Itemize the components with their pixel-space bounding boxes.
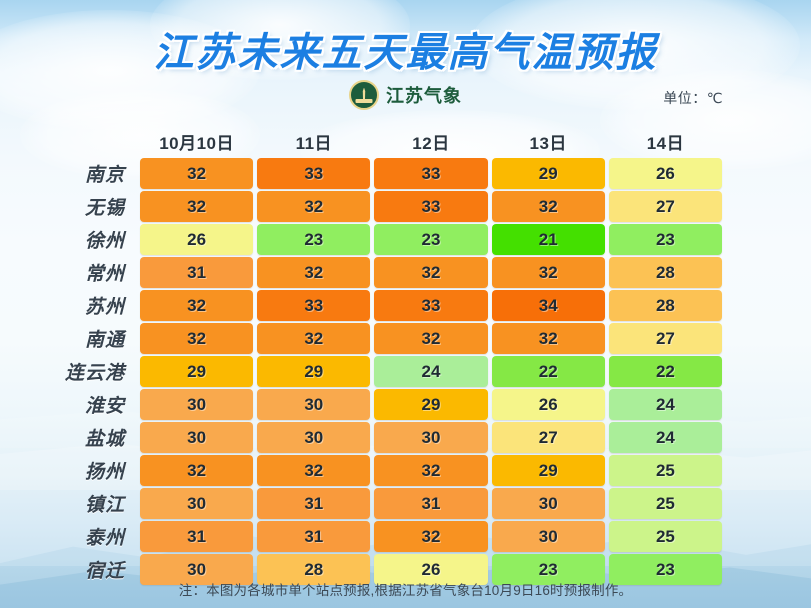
table-row: 扬州3232322925 <box>30 455 724 486</box>
temperature-cell-wrap: 24 <box>372 356 489 387</box>
table-row: 盐城3030302724 <box>30 422 724 453</box>
temperature-cell: 30 <box>492 521 605 552</box>
temperature-cell-wrap: 25 <box>607 488 724 519</box>
temperature-cell: 32 <box>492 257 605 288</box>
temperature-cell-wrap: 32 <box>138 323 255 354</box>
unit-label: 单位：℃ <box>663 88 723 108</box>
temperature-cell-wrap: 29 <box>138 356 255 387</box>
date-header: 11日 <box>255 129 372 154</box>
temperature-cell: 28 <box>609 257 722 288</box>
temperature-cell-wrap: 30 <box>138 389 255 420</box>
temperature-cell: 27 <box>609 323 722 354</box>
temperature-cell: 25 <box>609 521 722 552</box>
temperature-cell: 31 <box>257 521 370 552</box>
table-row: 南通3232323227 <box>30 323 724 354</box>
city-name: 常州 <box>30 257 138 288</box>
temperature-cell-wrap: 32 <box>138 191 255 222</box>
temperature-cell: 32 <box>374 455 487 486</box>
infographic-root: 江苏未来五天最高气温预报 江苏气象 单位：℃ 10月10日 11日 12日 13… <box>0 0 811 608</box>
temperature-cell: 27 <box>492 422 605 453</box>
temperature-cell-wrap: 28 <box>607 290 724 321</box>
table-row: 泰州3131323025 <box>30 521 724 552</box>
temperature-cell: 22 <box>492 356 605 387</box>
temperature-cell: 32 <box>492 191 605 222</box>
temperature-cell-wrap: 30 <box>255 422 372 453</box>
temperature-cell-wrap: 29 <box>490 455 607 486</box>
temperature-cell: 26 <box>140 224 253 255</box>
temperature-cell: 32 <box>140 323 253 354</box>
temperature-cell-wrap: 22 <box>490 356 607 387</box>
temperature-cell-wrap: 32 <box>255 455 372 486</box>
temperature-cell-wrap: 32 <box>372 455 489 486</box>
temperature-cell-wrap: 29 <box>255 356 372 387</box>
temperature-cell-wrap: 27 <box>607 191 724 222</box>
temperature-cell-wrap: 31 <box>372 488 489 519</box>
temperature-cell-wrap: 33 <box>255 158 372 189</box>
temperature-cell: 33 <box>374 191 487 222</box>
temperature-cell-wrap: 33 <box>372 191 489 222</box>
temperature-cell: 24 <box>609 422 722 453</box>
temperature-cell-wrap: 29 <box>490 158 607 189</box>
weather-bureau-emblem-icon <box>349 80 379 110</box>
temperature-cell: 33 <box>374 158 487 189</box>
city-name: 泰州 <box>30 521 138 552</box>
footnote: 注：本图为各城市单个站点预报,根据江苏省气象台10月9日16时预报制作。 <box>0 579 811 599</box>
temperature-cell-wrap: 27 <box>607 323 724 354</box>
temperature-cell: 23 <box>374 224 487 255</box>
temperature-cell: 32 <box>374 323 487 354</box>
temperature-cell: 31 <box>140 521 253 552</box>
temperature-cell: 23 <box>257 224 370 255</box>
temperature-cell-wrap: 30 <box>255 389 372 420</box>
temperature-cell-wrap: 31 <box>138 521 255 552</box>
temperature-cell-wrap: 28 <box>607 257 724 288</box>
temperature-cell: 25 <box>609 455 722 486</box>
temperature-cell: 32 <box>140 191 253 222</box>
temperature-cell: 33 <box>374 290 487 321</box>
temperature-cell: 24 <box>374 356 487 387</box>
temperature-cell-wrap: 23 <box>607 224 724 255</box>
temperature-cell-wrap: 30 <box>490 521 607 552</box>
temperature-cell: 32 <box>140 158 253 189</box>
temperature-cell: 29 <box>257 356 370 387</box>
temperature-cell: 28 <box>609 290 722 321</box>
table-row: 苏州3233333428 <box>30 290 724 321</box>
city-name: 淮安 <box>30 389 138 420</box>
temperature-cell: 27 <box>609 191 722 222</box>
temperature-cell-wrap: 25 <box>607 521 724 552</box>
temperature-cell: 32 <box>140 455 253 486</box>
date-header: 10月10日 <box>138 129 255 154</box>
temperature-cell: 32 <box>257 455 370 486</box>
table-row: 徐州2623232123 <box>30 224 724 255</box>
temperature-cell-wrap: 30 <box>490 488 607 519</box>
temperature-cell-wrap: 32 <box>490 257 607 288</box>
temperature-cell-wrap: 23 <box>255 224 372 255</box>
temperature-cell: 30 <box>492 488 605 519</box>
temperature-cell: 32 <box>374 257 487 288</box>
temperature-cell-wrap: 32 <box>255 257 372 288</box>
city-name: 南京 <box>30 158 138 189</box>
temperature-cell: 32 <box>374 521 487 552</box>
forecast-table: 10月10日 11日 12日 13日 14日 南京3233332926无锡323… <box>30 125 724 587</box>
temperature-cell-wrap: 31 <box>255 521 372 552</box>
temperature-cell-wrap: 23 <box>372 224 489 255</box>
city-name: 南通 <box>30 323 138 354</box>
date-header: 13日 <box>490 129 607 154</box>
temperature-cell-wrap: 30 <box>138 488 255 519</box>
temperature-cell: 32 <box>257 257 370 288</box>
temperature-cell: 30 <box>140 389 253 420</box>
temperature-cell-wrap: 32 <box>490 191 607 222</box>
temperature-cell: 29 <box>140 356 253 387</box>
temperature-cell: 29 <box>492 455 605 486</box>
temperature-cell-wrap: 31 <box>138 257 255 288</box>
table-body: 南京3233332926无锡3232333227徐州2623232123常州31… <box>30 158 724 585</box>
table-header-row: 10月10日 11日 12日 13日 14日 <box>30 125 724 158</box>
temperature-cell: 32 <box>257 191 370 222</box>
temperature-cell-wrap: 24 <box>607 422 724 453</box>
city-name: 镇江 <box>30 488 138 519</box>
temperature-cell: 25 <box>609 488 722 519</box>
temperature-cell: 30 <box>374 422 487 453</box>
city-name: 苏州 <box>30 290 138 321</box>
temperature-cell: 26 <box>609 158 722 189</box>
temperature-cell-wrap: 30 <box>372 422 489 453</box>
temperature-cell: 32 <box>140 290 253 321</box>
temperature-cell-wrap: 32 <box>490 323 607 354</box>
temperature-cell-wrap: 33 <box>255 290 372 321</box>
temperature-cell-wrap: 32 <box>255 191 372 222</box>
table-row: 常州3132323228 <box>30 257 724 288</box>
date-header: 14日 <box>607 129 724 154</box>
table-row: 镇江3031313025 <box>30 488 724 519</box>
brand-name: 江苏气象 <box>386 82 462 108</box>
temperature-cell-wrap: 26 <box>138 224 255 255</box>
temperature-cell: 30 <box>140 488 253 519</box>
temperature-cell-wrap: 25 <box>607 455 724 486</box>
temperature-cell: 24 <box>609 389 722 420</box>
temperature-cell: 29 <box>492 158 605 189</box>
temperature-cell: 26 <box>492 389 605 420</box>
temperature-cell: 30 <box>257 389 370 420</box>
temperature-cell-wrap: 26 <box>490 389 607 420</box>
temperature-cell-wrap: 29 <box>372 389 489 420</box>
date-header: 12日 <box>372 129 489 154</box>
temperature-cell: 22 <box>609 356 722 387</box>
temperature-cell-wrap: 24 <box>607 389 724 420</box>
temperature-cell: 32 <box>257 323 370 354</box>
temperature-cell: 23 <box>609 224 722 255</box>
temperature-cell: 31 <box>140 257 253 288</box>
temperature-cell: 32 <box>492 323 605 354</box>
table-row: 无锡3232333227 <box>30 191 724 222</box>
temperature-cell-wrap: 32 <box>138 158 255 189</box>
temperature-cell-wrap: 33 <box>372 290 489 321</box>
temperature-cell-wrap: 34 <box>490 290 607 321</box>
city-name: 无锡 <box>30 191 138 222</box>
page-title: 江苏未来五天最高气温预报 <box>0 20 811 78</box>
temperature-cell-wrap: 21 <box>490 224 607 255</box>
temperature-cell-wrap: 27 <box>490 422 607 453</box>
city-name: 盐城 <box>30 422 138 453</box>
temperature-cell: 29 <box>374 389 487 420</box>
temperature-cell: 30 <box>140 422 253 453</box>
temperature-cell: 33 <box>257 158 370 189</box>
temperature-cell-wrap: 31 <box>255 488 372 519</box>
temperature-cell: 30 <box>257 422 370 453</box>
temperature-cell: 21 <box>492 224 605 255</box>
temperature-cell-wrap: 32 <box>138 290 255 321</box>
temperature-cell-wrap: 32 <box>372 257 489 288</box>
temperature-cell-wrap: 26 <box>607 158 724 189</box>
table-row: 南京3233332926 <box>30 158 724 189</box>
table-row: 连云港2929242222 <box>30 356 724 387</box>
temperature-cell-wrap: 30 <box>138 422 255 453</box>
city-name: 连云港 <box>30 356 138 387</box>
temperature-cell: 31 <box>374 488 487 519</box>
city-name: 徐州 <box>30 224 138 255</box>
table-row: 淮安3030292624 <box>30 389 724 420</box>
temperature-cell-wrap: 33 <box>372 158 489 189</box>
temperature-cell-wrap: 32 <box>372 323 489 354</box>
temperature-cell-wrap: 22 <box>607 356 724 387</box>
temperature-cell: 34 <box>492 290 605 321</box>
temperature-cell-wrap: 32 <box>372 521 489 552</box>
temperature-cell: 31 <box>257 488 370 519</box>
temperature-cell: 33 <box>257 290 370 321</box>
temperature-cell-wrap: 32 <box>138 455 255 486</box>
temperature-cell-wrap: 32 <box>255 323 372 354</box>
city-name: 扬州 <box>30 455 138 486</box>
